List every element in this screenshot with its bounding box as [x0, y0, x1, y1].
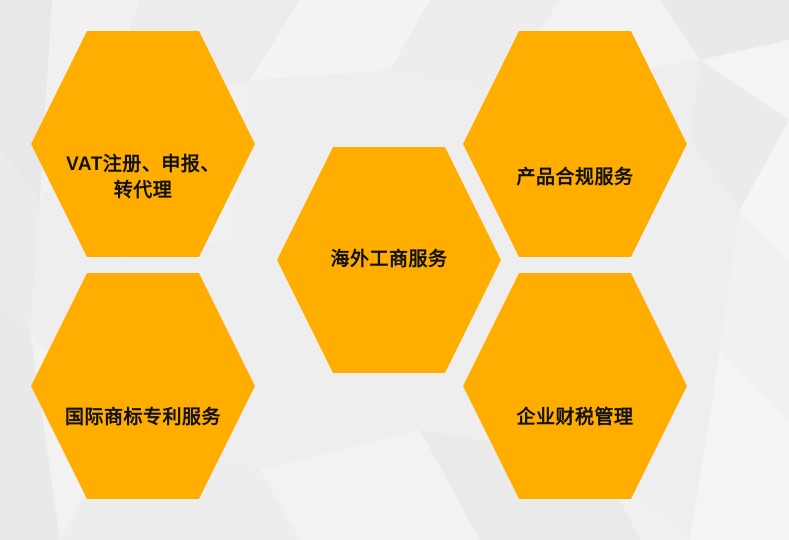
hexagon-infographic-slide: VAT注册、申报、 转代理 产品合规服务 海外工商服务 国际商标专利服务 企业财…	[0, 0, 789, 540]
hexagon-product-compliance-label: 产品合规服务	[510, 165, 639, 191]
hexagon-trademark-patent[interactable]: 国际商标专利服务	[31, 273, 255, 499]
hexagon-corporate-finance-tax-label: 企业财税管理	[510, 405, 639, 431]
hexagon-overseas-business-label: 海外工商服务	[324, 247, 453, 273]
hexagon-vat[interactable]: VAT注册、申报、 转代理	[31, 31, 255, 257]
hexagon-corporate-finance-tax[interactable]: 企业财税管理	[463, 273, 687, 499]
hexagon-product-compliance[interactable]: 产品合规服务	[463, 31, 687, 257]
hexagon-vat-label: VAT注册、申报、 转代理	[60, 152, 226, 203]
hexagon-overseas-business[interactable]: 海外工商服务	[277, 147, 501, 373]
hexagon-trademark-patent-label: 国际商标专利服务	[59, 405, 227, 431]
hexagon-layer: VAT注册、申报、 转代理 产品合规服务 海外工商服务 国际商标专利服务 企业财…	[0, 0, 789, 540]
